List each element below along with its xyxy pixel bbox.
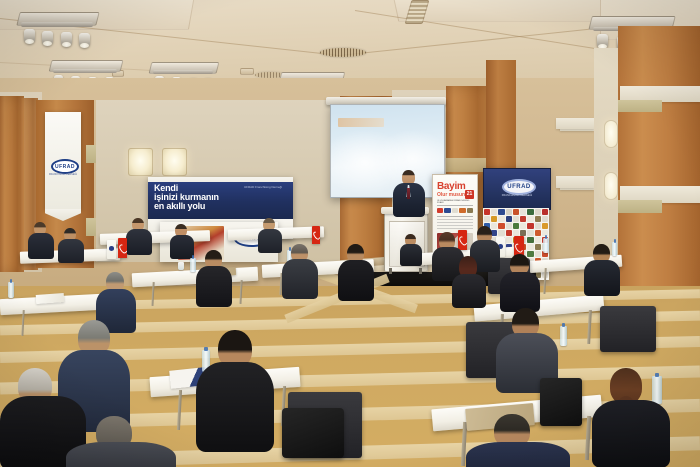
- audience-member: [592, 368, 670, 467]
- audience-member: [196, 250, 232, 306]
- torso: [170, 235, 194, 259]
- torso: [584, 260, 620, 296]
- audience-member: [338, 244, 374, 300]
- audience-member: [452, 256, 486, 306]
- audience-member: [66, 416, 176, 467]
- poster-divider: [437, 205, 473, 206]
- wall-pillar-wood-front: [618, 26, 700, 326]
- ceiling-vent: [240, 68, 254, 75]
- poster-badge-number: 21: [465, 191, 474, 197]
- wall-accent-band: [556, 176, 594, 188]
- wall-sconce: [162, 148, 187, 176]
- ceiling-spotlight-cluster: [18, 12, 96, 46]
- ceiling-grille: [320, 48, 366, 57]
- banner-subtext: UFRAD Franchising Derneği: [244, 186, 288, 190]
- water-bottle: [543, 238, 549, 253]
- torso: [592, 400, 670, 467]
- poster-badge: 21: [465, 190, 474, 199]
- torso: [28, 233, 54, 259]
- poster-sponsor-logos: [437, 208, 473, 213]
- torso: [400, 244, 422, 266]
- torso: [452, 274, 486, 308]
- wall-sconce: [604, 172, 618, 200]
- torso: [126, 229, 152, 255]
- presenter-at-podium: [392, 170, 426, 216]
- water-bottle: [8, 282, 14, 298]
- audience-member: [584, 244, 620, 292]
- drinking-glass: [178, 262, 184, 270]
- notepad: [36, 293, 65, 304]
- audience-member: [58, 228, 84, 262]
- turkish-flag: [118, 238, 127, 258]
- torso: [58, 239, 84, 263]
- rollup-header: UFRAD FRANCHISING DERNEĞİ: [483, 168, 551, 210]
- torso: [466, 442, 570, 467]
- audience-chair: [600, 306, 656, 352]
- poster-title-1: Bayim: [437, 181, 466, 192]
- audience-member: [282, 244, 318, 298]
- wall-accent-band: [618, 100, 662, 112]
- poster-title-2: Olur musun: [437, 192, 465, 198]
- banner-headline-panel: Kendi işinizi kurmanın en akıllı yolu UF…: [148, 182, 293, 219]
- audience-member: [170, 224, 194, 258]
- projection-screen: [330, 104, 445, 198]
- pennant-caption: FRANCHISING DERNEĞİ: [48, 173, 78, 176]
- poster-divider: [437, 216, 473, 217]
- wall-sconce: [604, 120, 618, 148]
- audience-member: [126, 218, 152, 254]
- audience-member: [400, 234, 422, 264]
- audience-member: [28, 222, 54, 258]
- ufrad-pennant: UFRAD FRANCHISING DERNEĞİ: [45, 112, 81, 210]
- audience-member: [258, 218, 282, 252]
- torso: [196, 266, 232, 307]
- ufrad-logo-text: UFRAD: [504, 184, 534, 190]
- torso: [338, 260, 374, 301]
- turkish-flag: [312, 226, 320, 244]
- torso: [500, 272, 540, 312]
- water-bottle: [560, 326, 567, 346]
- ufrad-logo-icon: UFRAD: [502, 179, 536, 195]
- ufrad-logo-icon: UFRAD: [51, 159, 79, 174]
- torso: [282, 259, 318, 299]
- wall-accent-band: [618, 200, 662, 213]
- slide-text-block: [338, 118, 384, 127]
- torso: [196, 362, 274, 452]
- audience-member: [196, 330, 274, 450]
- ufrad-logo-text: UFRAD: [53, 164, 77, 170]
- banner-line-3: en akıllı yolu: [154, 202, 205, 211]
- presenter-tie: [407, 188, 410, 199]
- torso: [66, 442, 176, 467]
- poster-body-text: [437, 219, 473, 231]
- rollup-subtitle: FRANCHISING DERNEĞİ: [492, 194, 542, 197]
- lectern-leg: [389, 268, 392, 274]
- backpack: [282, 408, 344, 458]
- handbag: [540, 378, 582, 426]
- lectern-leg: [419, 268, 422, 274]
- audience-member: [500, 254, 540, 310]
- poster-subtitle: ULUSLARARASI FRANCHISING FUARI: [437, 200, 473, 204]
- torso: [258, 229, 282, 253]
- wall-accent-band: [556, 118, 594, 129]
- conference-hall-photo: UFRAD FRANCHISING DERNEĞİ Kendi işinizi …: [0, 0, 700, 467]
- ufrad-table-flag: [107, 240, 116, 259]
- wall-sconce: [128, 148, 153, 176]
